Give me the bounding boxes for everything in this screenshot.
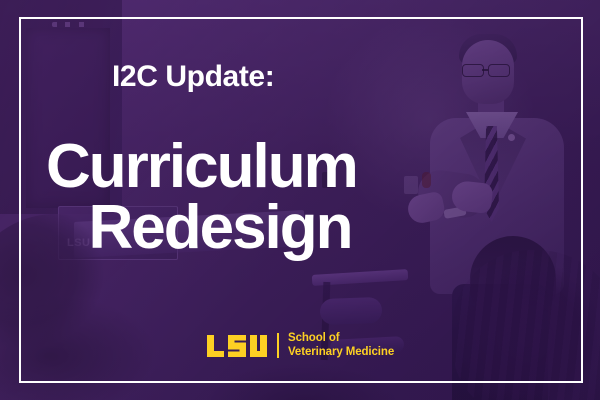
slide-canvas: LSU: [0, 0, 600, 400]
headline-line-1: Curriculum: [46, 136, 416, 197]
logo-unit-name: School of Veterinary Medicine: [288, 332, 394, 359]
lsu-logo-lockup: School of Veterinary Medicine: [206, 332, 394, 359]
logo-divider: [277, 333, 279, 358]
logo-unit-line-2: Veterinary Medicine: [288, 346, 394, 360]
headline-line-2: Redesign: [46, 197, 416, 258]
eyebrow-text: I2C Update:: [112, 62, 274, 92]
page-title: Curriculum Redesign: [46, 136, 416, 259]
lsu-wordmark-icon: [206, 334, 268, 358]
logo-unit-line-1: School of: [288, 332, 394, 346]
